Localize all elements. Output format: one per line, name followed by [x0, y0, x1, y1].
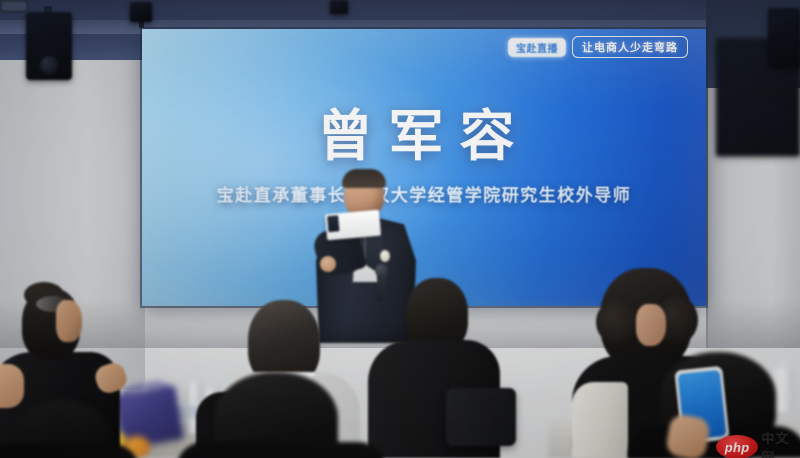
- audience-torso: [0, 444, 140, 458]
- microphone-head-icon: [375, 264, 388, 277]
- audience-arm: [0, 364, 24, 408]
- screen-banner: 宝赴直播 让电商人少走弯路: [508, 36, 688, 58]
- photo-canvas: 宝赴直播 让电商人少走弯路 曾军容 宝赴直承董事长 武汉大学经管学院研究生校外导…: [0, 0, 800, 458]
- brand-badge: 宝赴直播: [508, 38, 566, 57]
- ceiling-speaker-icon: [130, 2, 152, 22]
- wall-speaker-left-icon: [26, 12, 72, 80]
- audience-face: [56, 300, 82, 342]
- audience-face: [636, 304, 666, 346]
- audience-torso: [176, 442, 386, 458]
- ceiling-speaker-icon: [330, 0, 348, 14]
- boutonniere-icon: [380, 250, 390, 262]
- ceiling-speaker-right-icon: [768, 8, 800, 68]
- eyeglasses-icon: [0, 0, 28, 12]
- php-logo-icon: php: [716, 435, 758, 458]
- watermark: php 中文网: [716, 428, 800, 458]
- audience-member-woman-glasses: [0, 0, 28, 12]
- presenter-hair: [342, 169, 386, 188]
- presenter-hand: [320, 256, 336, 272]
- hair-curl: [596, 300, 636, 344]
- audience-light-top: [572, 382, 628, 458]
- watermark-site-label: 中文网: [761, 428, 800, 458]
- speaker-name-title: 曾军容: [142, 91, 706, 171]
- slogan-pill: 让电商人少走弯路: [572, 36, 688, 58]
- hand-holding-phone: [665, 413, 712, 458]
- name-card-icon: [325, 210, 381, 241]
- chair-back: [446, 388, 516, 446]
